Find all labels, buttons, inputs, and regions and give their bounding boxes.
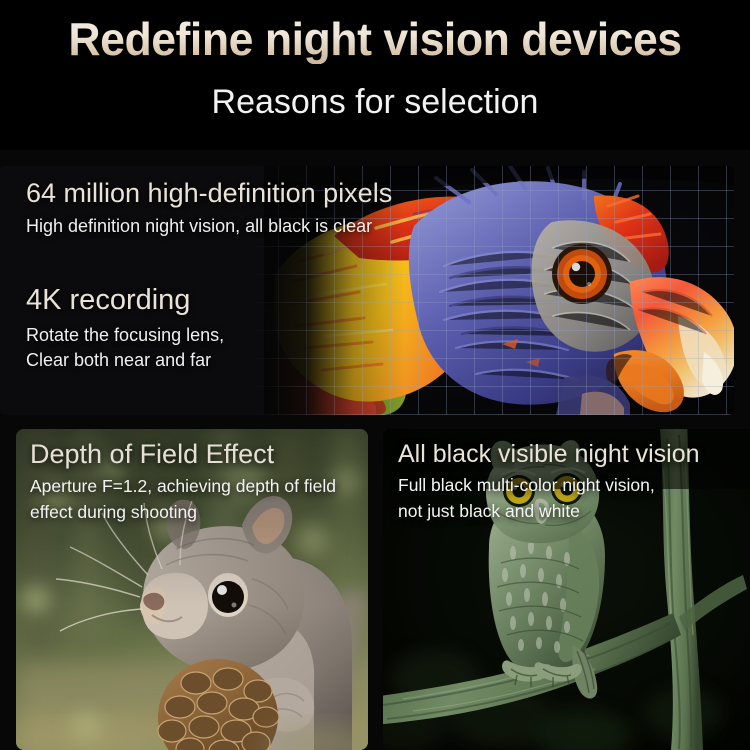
feature-title: Depth of Field Effect [30,435,336,473]
promo-page: Redefine night vision devices Reasons fo… [0,0,750,750]
page-header: Redefine night vision devices Reasons fo… [0,0,750,150]
feature-title: 64 million high-definition pixels [26,176,392,210]
feature-description-line2: Clear both near and far [26,348,224,373]
feature-description-line2: not just black and white [398,498,700,524]
feature-panel-hd-pixels: 64 million high-definition pixels High d… [0,166,734,415]
feature-description-line1: Rotate the focusing lens, [26,323,224,348]
feature-text-night-vision: All black visible night vision Full blac… [398,437,700,524]
feature-panel-night-vision: All black visible night vision Full blac… [383,429,750,750]
feature-title: 4K recording [26,281,224,319]
feature-panel-depth-of-field: Depth of Field Effect Aperture F=1.2, ac… [16,429,368,750]
feature-description: High definition night vision, all black … [26,213,392,239]
feature-text-hd-pixels: 64 million high-definition pixels High d… [26,176,392,239]
feature-description-line1: Full black multi-color night vision, [398,472,700,498]
page-subtitle: Reasons for selection [0,80,750,124]
page-title: Redefine night vision devices [11,14,739,64]
feature-description-line2: effect during shooting [30,499,336,525]
feature-text-4k-recording: 4K recording Rotate the focusing lens, C… [26,281,224,373]
feature-title: All black visible night vision [398,437,700,472]
feature-text-depth-of-field: Depth of Field Effect Aperture F=1.2, ac… [30,435,336,525]
feature-description-line1: Aperture F=1.2, achieving depth of field [30,473,336,499]
